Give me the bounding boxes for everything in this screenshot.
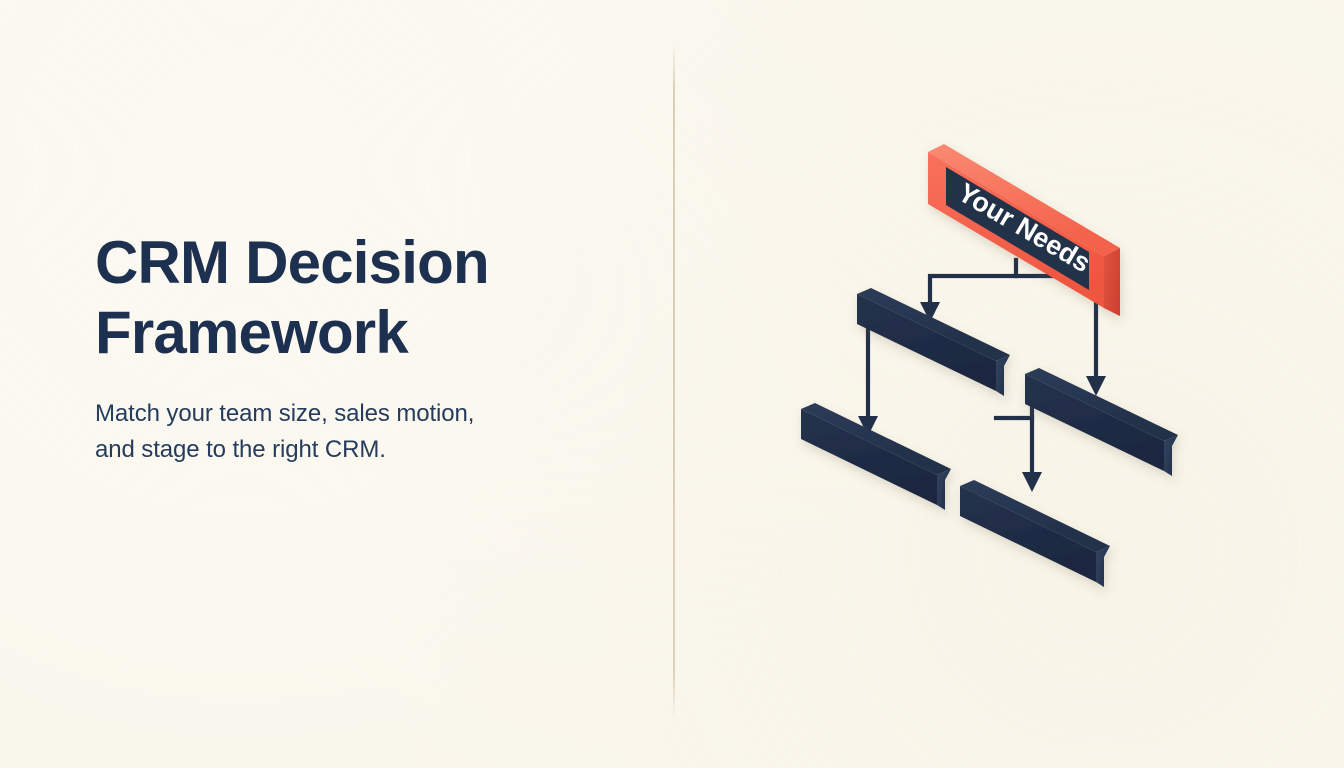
slide-canvas: CRM Decision Framework Match your team s… xyxy=(0,0,1344,768)
page-title: CRM Decision Framework xyxy=(95,228,625,368)
isometric-flowchart-diagram: Your Needs xyxy=(760,100,1320,660)
root-node-card[interactable]: Your Needs xyxy=(928,144,1120,316)
connector-root-spine xyxy=(930,260,1016,308)
text-column: CRM Decision Framework Match your team s… xyxy=(95,228,625,467)
arrowhead-icon xyxy=(1022,472,1042,492)
node-4-block[interactable] xyxy=(960,480,1110,587)
page-subtitle: Match your team size, sales motion, and … xyxy=(95,396,625,467)
root-card-top-right xyxy=(1104,248,1120,316)
vertical-divider xyxy=(673,42,675,718)
